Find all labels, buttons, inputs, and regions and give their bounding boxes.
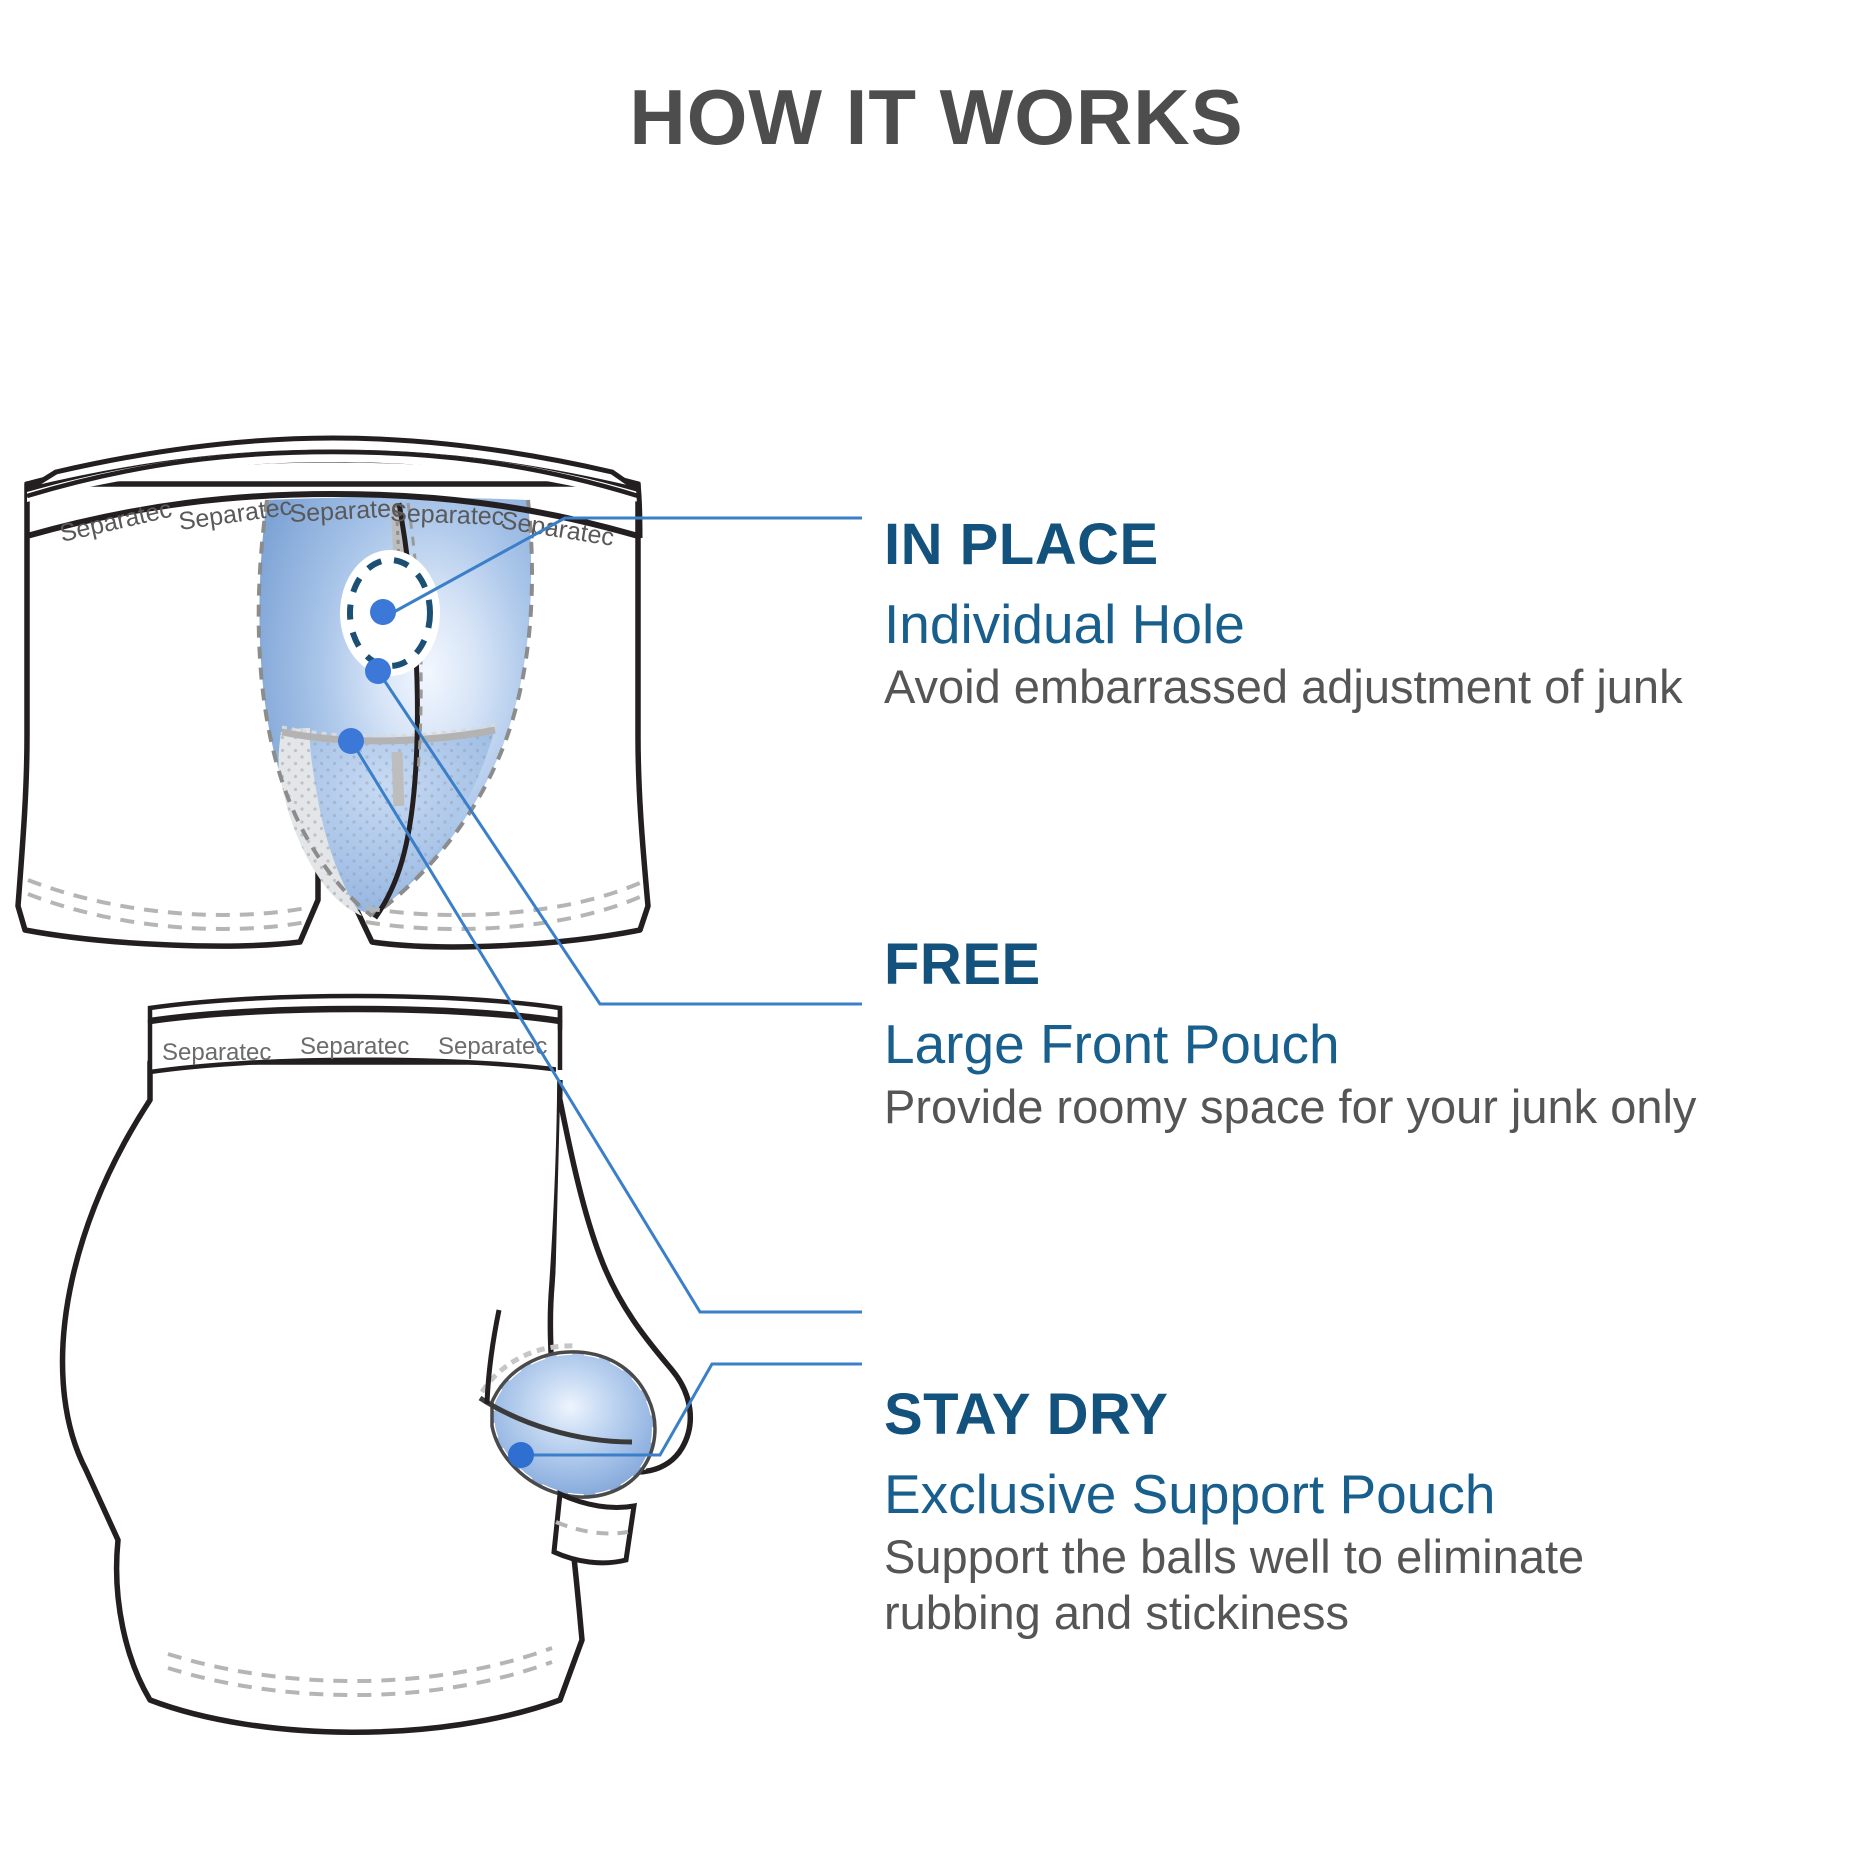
callout-description-line: Provide roomy space for your junk only <box>884 1079 1864 1134</box>
callout-description: Provide roomy space for your junk only <box>884 1079 1864 1134</box>
side-leg-cuff <box>554 1494 634 1563</box>
anchor-support-pouch <box>508 1442 534 1468</box>
callout-in-place: IN PLACE Individual Hole Avoid embarrass… <box>884 515 1864 715</box>
waistband-brand-text: Separatec <box>162 1039 271 1066</box>
callout-description: Avoid embarrassed adjustment of junk <box>884 659 1864 714</box>
callout-eyebrow: STAY DRY <box>884 1385 1864 1446</box>
callout-free: FREE Large Front Pouch Provide roomy spa… <box>884 935 1864 1135</box>
callout-description-line: Support the balls well to eliminate <box>884 1529 1864 1584</box>
waistband-right-edge <box>638 484 640 538</box>
callout-stay-dry: STAY DRY Exclusive Support Pouch Support… <box>884 1385 1864 1640</box>
anchor-front-pouch-bottom <box>338 728 364 754</box>
callout-description: Support the balls well to eliminate rubb… <box>884 1529 1864 1640</box>
waistband-brand-text: Separatec <box>289 494 404 528</box>
waistband-brand-text: Separatec <box>300 1033 409 1060</box>
infographic-canvas: HOW IT WORKS <box>0 0 1873 1873</box>
callout-eyebrow: IN PLACE <box>884 515 1864 576</box>
waistband-brand-text: Separatec <box>390 499 505 531</box>
callout-subtitle: Individual Hole <box>884 594 1864 656</box>
callout-subtitle: Exclusive Support Pouch <box>884 1464 1864 1526</box>
callout-subtitle: Large Front Pouch <box>884 1014 1864 1076</box>
front-center-tape-lower <box>397 752 399 806</box>
anchor-individual-hole <box>370 599 396 625</box>
callout-eyebrow: FREE <box>884 935 1864 996</box>
callout-description-line: rubbing and stickiness <box>884 1585 1864 1640</box>
callout-description-line: Avoid embarrassed adjustment of junk <box>884 659 1864 714</box>
anchor-front-pouch <box>365 658 391 684</box>
boxer-brief-front-view: Separatec Separatec Separatec Separatec … <box>18 438 660 947</box>
boxer-brief-side-view: Separatec Separatec Separatec <box>63 996 691 1732</box>
